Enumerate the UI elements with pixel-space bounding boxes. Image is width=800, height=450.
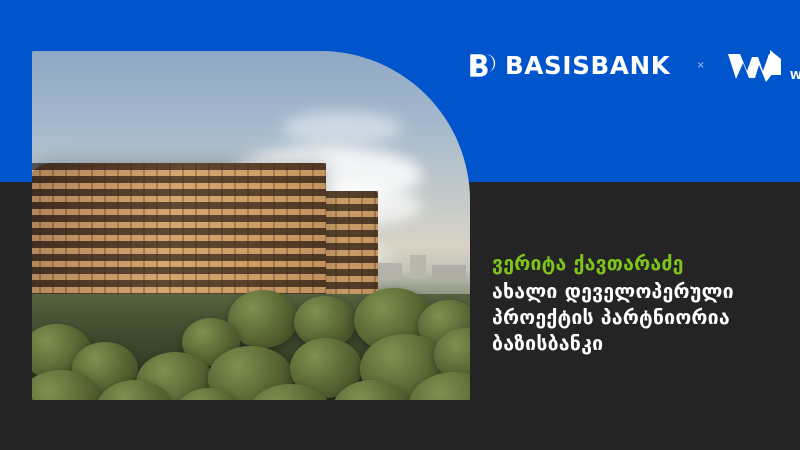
park-ground <box>32 294 470 400</box>
headline-block: ვერიტა ქავთარაძე ახალი დეველოპერული პროე… <box>492 251 792 357</box>
wellhouse-wordmark: WELL HOUSE <box>790 70 800 84</box>
hero-photo-card <box>32 51 470 400</box>
partner-brand-lockup: BASISBANK × WELL HOUSE <box>468 44 800 88</box>
person-name-line: ვერიტა ქავთარაძე <box>492 251 792 277</box>
cloud-shape <box>282 111 402 145</box>
basisbank-b-mark-icon <box>468 52 496 80</box>
headline-body: ახალი დეველოპერული პროექტის პარტნიორია ბ… <box>492 279 792 357</box>
basisbank-logo[interactable]: BASISBANK <box>468 52 670 80</box>
headline-line-3: ბაზისბანკი <box>492 331 792 357</box>
promo-banner: BASISBANK × WELL HOUSE ვერიტა ქავთარაძე … <box>0 0 800 450</box>
headline-line-1: ახალი დეველოპერული <box>492 279 792 305</box>
basisbank-wordmark: BASISBANK <box>505 54 670 79</box>
wellhouse-w-house-mark-icon <box>727 48 785 84</box>
brand-separator-x: × <box>696 61 704 71</box>
wellhouse-logo[interactable]: WELL HOUSE <box>727 48 800 84</box>
headline-line-2: პროექტის პარტნიორია <box>492 305 792 331</box>
hero-photo-scene <box>32 51 470 400</box>
